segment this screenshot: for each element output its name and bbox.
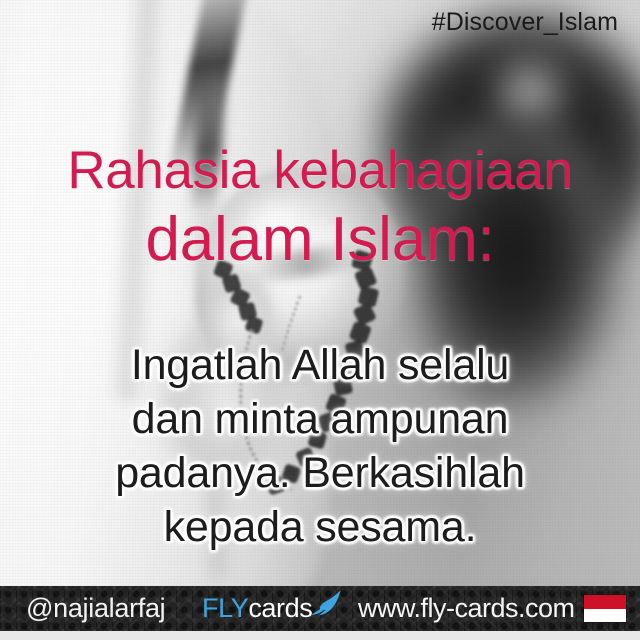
quote-line: kepada sesama. [0,500,640,554]
hashtag-label: #Discover_Islam [432,8,618,37]
quote-line: dan minta ampunan [0,392,640,446]
flag-stripe-white [584,609,626,623]
bottom-strip [0,631,640,640]
headline-line-1: Rahasia kebahagiaan [0,142,640,200]
website-url[interactable]: www.fly-cards.com [358,593,575,624]
quote-body: Ingatlah Allah selalu dan minta ampunan … [0,338,640,554]
twitter-handle[interactable]: @najialarfaj [26,593,165,624]
flag-stripe-red [584,595,626,609]
flycards-logo[interactable]: FLY cards [202,593,343,624]
flycards-logo-cards: cards [248,593,312,624]
quote-line: padanya. Berkasihlah [0,446,640,500]
headline: Rahasia kebahagiaan dalam Islam: [0,142,640,276]
footer-bar: @najialarfaj FLY cards www.fly-cards.com [0,586,640,631]
bird-icon [309,589,343,619]
flycards-logo-fly: FLY [202,593,248,624]
indonesia-flag-icon [584,595,626,622]
quote-card: #Discover_Islam Rahasia kebahagiaan dala… [0,0,640,640]
quote-line: Ingatlah Allah selalu [0,338,640,392]
headline-line-2: dalam Islam: [0,204,640,276]
